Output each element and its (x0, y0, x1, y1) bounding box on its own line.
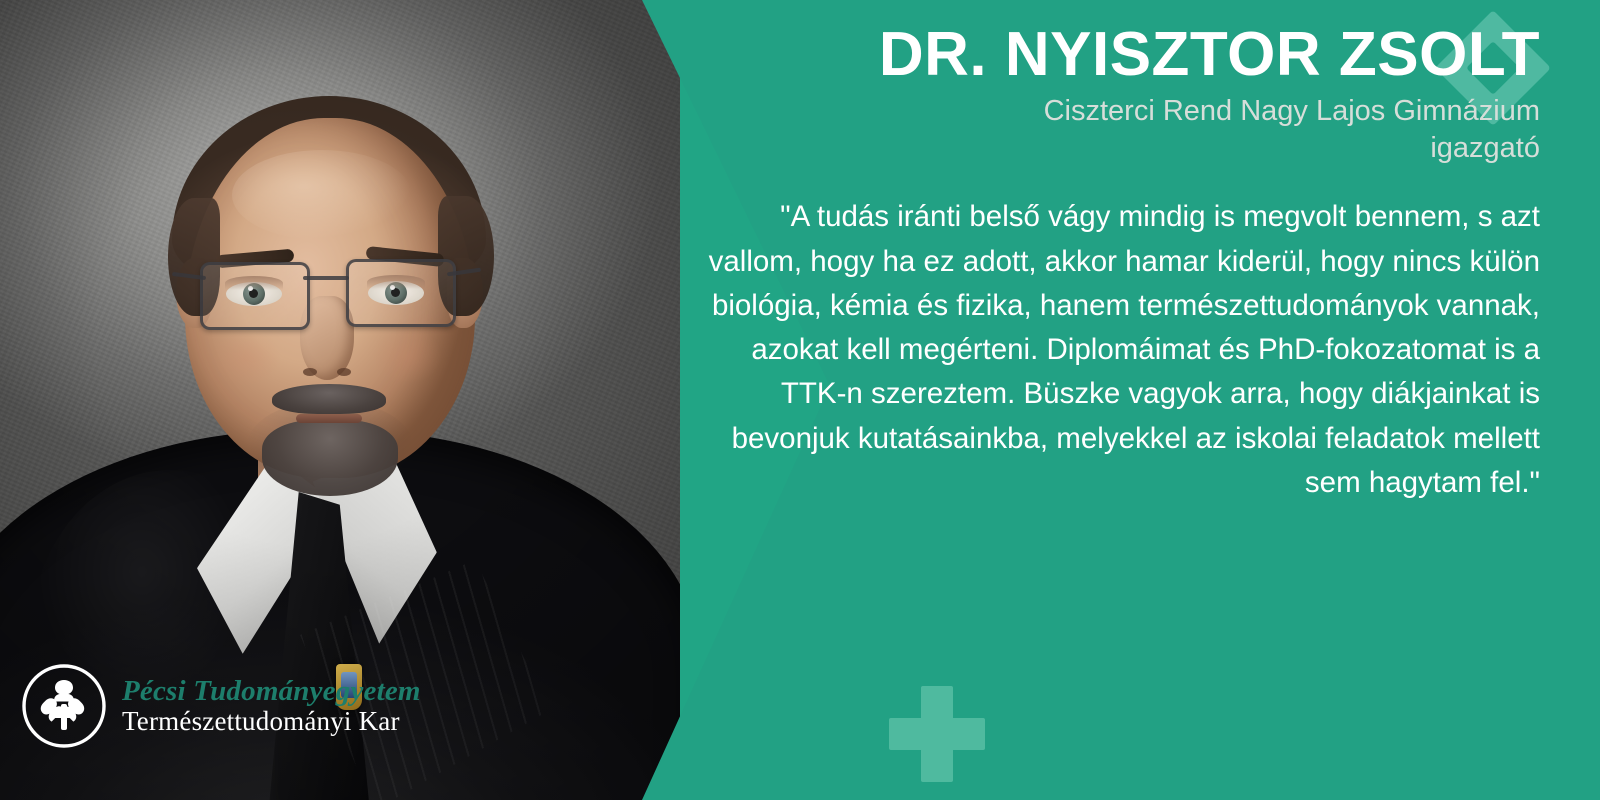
beard (262, 420, 398, 496)
logo-faculty-name: Természettudományi Kar (122, 707, 421, 736)
eyeglass-bridge (303, 276, 349, 280)
cheek-left (212, 330, 282, 386)
cheek-right (372, 328, 442, 384)
mouth (296, 414, 362, 423)
pte-flower-icon (22, 664, 106, 748)
forehead-highlight (232, 150, 412, 240)
promo-card: DR. NYISZTOR ZSOLT Ciszterci Rend Nagy L… (0, 0, 1600, 800)
person-quote: "A tudás iránti belső vágy mindig is meg… (700, 195, 1540, 505)
person-name: DR. NYISZTOR ZSOLT (700, 22, 1540, 87)
person-institution: Ciszterci Rend Nagy Lajos Gimnázium (700, 93, 1540, 130)
logo-text: Pécsi Tudományegyetem Természettudományi… (122, 676, 421, 735)
nostril-right (337, 368, 351, 376)
text-block: DR. NYISZTOR ZSOLT Ciszterci Rend Nagy L… (700, 22, 1540, 505)
person-role: igazgató (700, 130, 1540, 167)
university-logo: Pécsi Tudományegyetem Természettudományi… (22, 664, 421, 748)
plus-icon-horizontal (889, 718, 985, 750)
nostril-left (303, 368, 317, 376)
moustache (272, 384, 386, 414)
eyeglass-lens-right (346, 259, 456, 327)
logo-university-name: Pécsi Tudományegyetem (122, 676, 421, 707)
eyeglass-lens-left (200, 262, 310, 330)
